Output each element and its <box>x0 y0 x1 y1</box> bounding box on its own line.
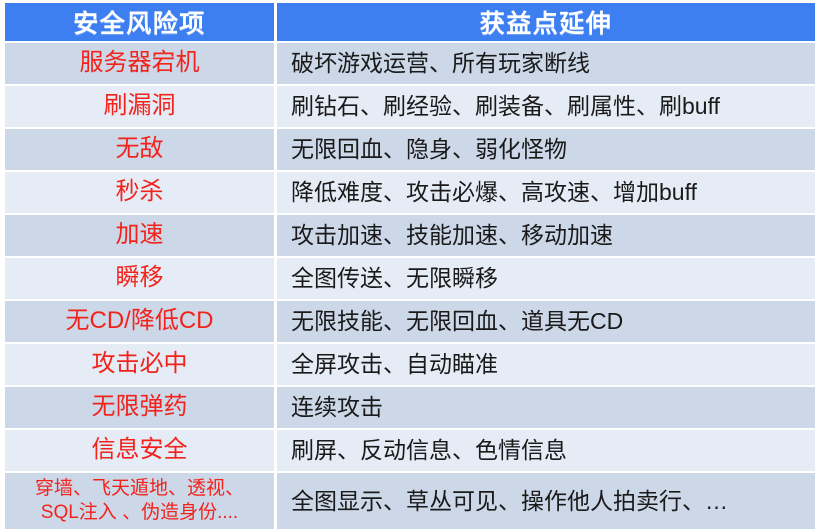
risk-cell: 秒杀 <box>5 170 277 213</box>
table-row: 信息安全 刷屏、反动信息、色情信息 <box>5 428 815 471</box>
risk-cell: 信息安全 <box>5 428 277 471</box>
gain-cell: 降低难度、攻击必爆、高攻速、增加buff <box>277 170 815 213</box>
risk-cell: 攻击必中 <box>5 342 277 385</box>
gain-cell: 攻击加速、技能加速、移动加速 <box>277 213 815 256</box>
table-row: 秒杀 降低难度、攻击必爆、高攻速、增加buff <box>5 170 815 213</box>
risk-cell: 刷漏洞 <box>5 84 277 127</box>
risk-cell: 无CD/降低CD <box>5 299 277 342</box>
risk-cell: 服务器宕机 <box>5 41 277 84</box>
table-row: 刷漏洞 刷钻石、刷经验、刷装备、刷属性、刷buff <box>5 84 815 127</box>
gain-cell: 全图传送、无限瞬移 <box>277 256 815 299</box>
table-row: 瞬移 全图传送、无限瞬移 <box>5 256 815 299</box>
table-row: 穿墙、飞天遁地、透视、 SQL注入 、伪造身份.... 全图显示、草丛可见、操作… <box>5 471 815 529</box>
table-row: 无CD/降低CD 无限技能、无限回血、道具无CD <box>5 299 815 342</box>
table-row: 无敌 无限回血、隐身、弱化怪物 <box>5 127 815 170</box>
gain-cell: 刷钻石、刷经验、刷装备、刷属性、刷buff <box>277 84 815 127</box>
risk-gain-table: 安全风险项 获益点延伸 服务器宕机 破坏游戏运营、所有玩家断线 刷漏洞 刷钻石、… <box>5 3 815 529</box>
table-body: 服务器宕机 破坏游戏运营、所有玩家断线 刷漏洞 刷钻石、刷经验、刷装备、刷属性、… <box>5 41 815 529</box>
gain-cell: 破坏游戏运营、所有玩家断线 <box>277 41 815 84</box>
risk-cell-line-1: 穿墙、飞天遁地、透视、 <box>9 477 270 501</box>
gain-cell: 无限技能、无限回血、道具无CD <box>277 299 815 342</box>
gain-cell: 全屏攻击、自动瞄准 <box>277 342 815 385</box>
table-header: 安全风险项 获益点延伸 <box>5 3 815 41</box>
gain-cell: 刷屏、反动信息、色情信息 <box>277 428 815 471</box>
risk-cell: 无限弹药 <box>5 385 277 428</box>
risk-cell: 穿墙、飞天遁地、透视、 SQL注入 、伪造身份.... <box>5 471 277 529</box>
column-header-risk: 安全风险项 <box>5 3 277 41</box>
risk-cell: 加速 <box>5 213 277 256</box>
header-row: 安全风险项 获益点延伸 <box>5 3 815 41</box>
column-header-gain: 获益点延伸 <box>277 3 815 41</box>
gain-cell: 全图显示、草丛可见、操作他人拍卖行、… <box>277 471 815 529</box>
table-row: 加速 攻击加速、技能加速、移动加速 <box>5 213 815 256</box>
table-row: 无限弹药 连续攻击 <box>5 385 815 428</box>
risk-cell: 无敌 <box>5 127 277 170</box>
table-row: 服务器宕机 破坏游戏运营、所有玩家断线 <box>5 41 815 84</box>
table-row: 攻击必中 全屏攻击、自动瞄准 <box>5 342 815 385</box>
gain-cell: 连续攻击 <box>277 385 815 428</box>
risk-cell-line-2: SQL注入 、伪造身份.... <box>9 501 270 525</box>
gain-cell: 无限回血、隐身、弱化怪物 <box>277 127 815 170</box>
risk-cell: 瞬移 <box>5 256 277 299</box>
risk-table-container: 安全风险项 获益点延伸 服务器宕机 破坏游戏运营、所有玩家断线 刷漏洞 刷钻石、… <box>0 0 825 500</box>
